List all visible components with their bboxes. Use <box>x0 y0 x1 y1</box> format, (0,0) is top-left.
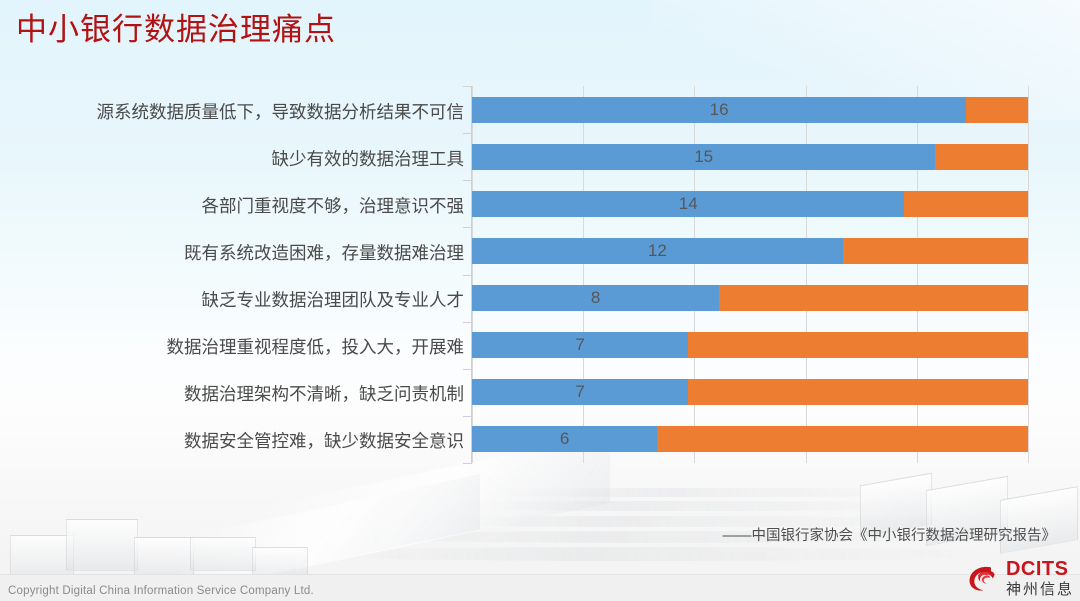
chart-bar-segment-remainder[interactable] <box>904 191 1028 217</box>
chart-gridline <box>806 86 807 463</box>
chart-y-tick <box>463 180 472 181</box>
chart-bar-segment-remainder[interactable] <box>843 238 1028 264</box>
page-title: 中小银行数据治理痛点 <box>16 8 336 52</box>
source-citation: ——中国银行家协会《中小银行数据治理研究报告》 <box>723 524 1057 545</box>
chart-bar-segment-remainder[interactable] <box>688 332 1028 358</box>
chart-bar-value-label: 7 <box>472 379 688 405</box>
chart-y-tick <box>463 416 472 417</box>
chart-category-label: 数据安全管控难，缺少数据安全意识 <box>184 428 464 453</box>
chart-y-tick <box>463 275 472 276</box>
chart-y-tick <box>463 227 472 228</box>
chart-gridline <box>917 86 918 463</box>
chart-gridline <box>1028 86 1029 463</box>
chart-bar-segment-remainder[interactable] <box>719 285 1028 311</box>
logo-en-text: DCITS <box>1006 559 1074 579</box>
chart-y-tick <box>463 369 472 370</box>
chart-category-label: 既有系统改造困难，存量数据难治理 <box>184 240 464 265</box>
chart-bar-segment-remainder[interactable] <box>688 379 1028 405</box>
chart-bar-value-label: 6 <box>472 426 657 452</box>
chart-gridline <box>694 86 695 463</box>
dcits-logo: DCITS 神州信息 <box>966 559 1074 597</box>
chart-gridline <box>583 86 584 463</box>
slide-canvas: 中小银行数据治理痛点 源系统数据质量低下，导致数据分析结果不可信16缺少有效的数… <box>0 0 1080 601</box>
chart-bar-value-label: 8 <box>472 285 719 311</box>
chart-y-tick <box>463 86 472 87</box>
chart-bar-value-label: 12 <box>472 238 843 264</box>
chart-category-label: 缺乏专业数据治理团队及专业人才 <box>202 287 465 312</box>
stacked-bar-chart: 源系统数据质量低下，导致数据分析结果不可信16缺少有效的数据治理工具15各部门重… <box>0 86 1080 468</box>
chart-bar-segment-remainder[interactable] <box>935 144 1028 170</box>
chart-bar-value-label: 15 <box>472 144 935 170</box>
chart-y-tick <box>463 133 472 134</box>
chart-category-label: 缺少有效的数据治理工具 <box>272 146 465 171</box>
copyright-text: Copyright Digital China Information Serv… <box>8 585 314 597</box>
chart-category-label: 数据治理重视程度低，投入大，开展难 <box>167 334 465 359</box>
chart-y-tick <box>463 463 472 464</box>
chart-bar-value-label: 14 <box>472 191 904 217</box>
chart-gridline <box>472 86 473 463</box>
dcits-swoosh-icon <box>966 561 1000 595</box>
chart-bar-segment-remainder[interactable] <box>657 426 1028 452</box>
chart-category-label: 各部门重视度不够，治理意识不强 <box>202 193 465 218</box>
chart-category-label: 源系统数据质量低下，导致数据分析结果不可信 <box>97 99 465 124</box>
logo-cn-text: 神州信息 <box>1006 582 1074 597</box>
chart-y-tick <box>463 322 472 323</box>
chart-bar-value-label: 7 <box>472 332 688 358</box>
chart-category-label: 数据治理架构不清晰，缺乏问责机制 <box>184 381 464 406</box>
logo-wordmark: DCITS 神州信息 <box>1006 559 1074 597</box>
chart-bar-value-label: 16 <box>472 97 966 123</box>
chart-bar-segment-remainder[interactable] <box>966 97 1028 123</box>
